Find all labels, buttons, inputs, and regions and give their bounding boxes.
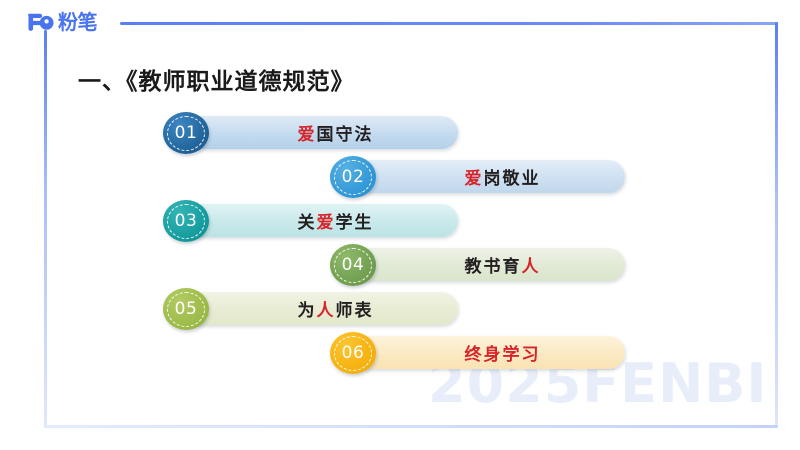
item-number-badge[interactable]: 04 bbox=[330, 244, 376, 286]
item-label-highlight: 人 bbox=[317, 301, 336, 321]
item-number-badge[interactable]: 02 bbox=[330, 156, 376, 198]
item-label-highlight: 人 bbox=[522, 257, 541, 277]
item-label: 爱国守法 bbox=[185, 120, 458, 145]
item-number-badge[interactable]: 06 bbox=[330, 332, 376, 374]
item-number: 03 bbox=[175, 211, 198, 231]
list-item[interactable]: 教书育人 04 bbox=[0, 244, 800, 282]
item-label: 关爱学生 bbox=[185, 208, 458, 233]
principle-list: 爱国守法 01 爱岗敬业 02 关爱学生 03 教书育人 bbox=[0, 112, 800, 376]
item-label-highlight: 爱 bbox=[317, 213, 336, 233]
item-label-pre: 教书育 bbox=[465, 257, 522, 277]
page-title: 一、《教师职业道德规范》 bbox=[78, 62, 355, 96]
list-item[interactable]: 为人师表 05 bbox=[0, 288, 800, 326]
slide-canvas: 粉笔 一、《教师职业道德规范》 2025FENBI 爱国守法 01 爱岗敬业 0… bbox=[0, 0, 800, 450]
list-item[interactable]: 终身学习 06 bbox=[0, 332, 800, 370]
item-number: 02 bbox=[342, 167, 365, 187]
item-label-pre: 关 bbox=[298, 213, 317, 233]
list-item[interactable]: 爱岗敬业 02 bbox=[0, 156, 800, 194]
item-label-post: 国守法 bbox=[317, 125, 374, 145]
item-label-highlight: 终身学习 bbox=[465, 345, 541, 365]
list-item[interactable]: 关爱学生 03 bbox=[0, 200, 800, 238]
fb-logo-icon bbox=[26, 11, 54, 33]
item-bar[interactable]: 终身学习 bbox=[352, 336, 625, 369]
item-bar[interactable]: 为人师表 bbox=[185, 292, 458, 325]
item-label-post: 学生 bbox=[336, 213, 374, 233]
frame-bottom-border bbox=[44, 425, 778, 428]
item-bar[interactable]: 教书育人 bbox=[352, 248, 625, 281]
item-number-badge[interactable]: 01 bbox=[163, 112, 209, 154]
item-bar[interactable]: 关爱学生 bbox=[185, 204, 458, 237]
item-number-badge[interactable]: 03 bbox=[163, 200, 209, 242]
item-label-highlight: 爱 bbox=[298, 125, 317, 145]
item-label-post: 师表 bbox=[336, 301, 374, 321]
item-label: 为人师表 bbox=[185, 296, 458, 321]
list-item[interactable]: 爱国守法 01 bbox=[0, 112, 800, 150]
item-number-badge[interactable]: 05 bbox=[163, 288, 209, 330]
item-number: 01 bbox=[175, 123, 198, 143]
item-label: 终身学习 bbox=[352, 340, 625, 365]
brand-logo: 粉笔 bbox=[26, 8, 97, 36]
item-number: 05 bbox=[175, 299, 198, 319]
item-label-pre: 为 bbox=[298, 301, 317, 321]
brand-logo-text: 粉笔 bbox=[58, 11, 97, 33]
item-label: 教书育人 bbox=[352, 252, 625, 277]
item-number: 06 bbox=[342, 343, 365, 363]
item-label-post: 岗敬业 bbox=[484, 169, 541, 189]
item-label-highlight: 爱 bbox=[465, 169, 484, 189]
frame-top-border bbox=[120, 22, 778, 25]
item-bar[interactable]: 爱国守法 bbox=[185, 116, 458, 149]
item-bar[interactable]: 爱岗敬业 bbox=[352, 160, 625, 193]
item-number: 04 bbox=[342, 255, 365, 275]
item-label: 爱岗敬业 bbox=[352, 164, 625, 189]
